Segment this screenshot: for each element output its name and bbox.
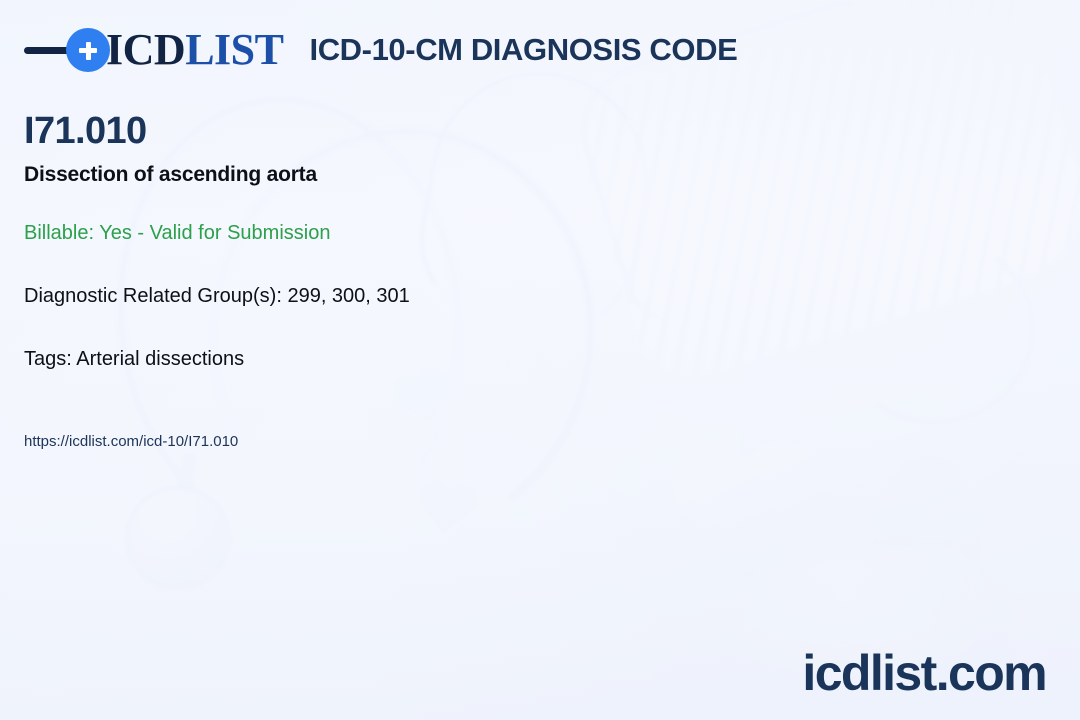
diagnosis-code: I71.010 bbox=[24, 110, 664, 154]
site-watermark: icdlist.com bbox=[802, 648, 1046, 698]
plus-icon bbox=[66, 28, 110, 72]
paper-heart-small-lower bbox=[412, 474, 481, 538]
mask-ear-loop-right bbox=[826, 225, 1046, 436]
stethoscope-chestpiece bbox=[130, 490, 226, 586]
diagnosis-description: Dissection of ascending aorta bbox=[24, 162, 664, 187]
code-details: I71.010 Dissection of ascending aorta Bi… bbox=[24, 110, 664, 451]
hand-finger-upper bbox=[856, 443, 974, 587]
logo-word-list: LIST bbox=[185, 28, 283, 72]
icdlist-logo[interactable]: ICD LIST bbox=[24, 26, 283, 74]
source-url[interactable]: https://icdlist.com/icd-10/I71.010 bbox=[24, 433, 664, 451]
icd-code-card: ICD LIST ICD-10-CM DIAGNOSIS CODE I71.01… bbox=[0, 0, 1080, 720]
dash-icon bbox=[24, 47, 70, 54]
header-bar: ICD LIST ICD-10-CM DIAGNOSIS CODE bbox=[0, 0, 1080, 100]
diagnostic-related-groups: Diagnostic Related Group(s): 299, 300, 3… bbox=[24, 284, 664, 308]
billable-status: Billable: Yes - Valid for Submission bbox=[24, 221, 664, 245]
page-title: ICD-10-CM DIAGNOSIS CODE bbox=[309, 32, 737, 68]
paper-heart-large bbox=[672, 438, 822, 580]
logo-word-icd: ICD bbox=[106, 28, 185, 72]
tags-line: Tags: Arterial dissections bbox=[24, 347, 664, 371]
hand-finger-lower bbox=[891, 492, 995, 629]
stethoscope-stem bbox=[172, 451, 199, 515]
